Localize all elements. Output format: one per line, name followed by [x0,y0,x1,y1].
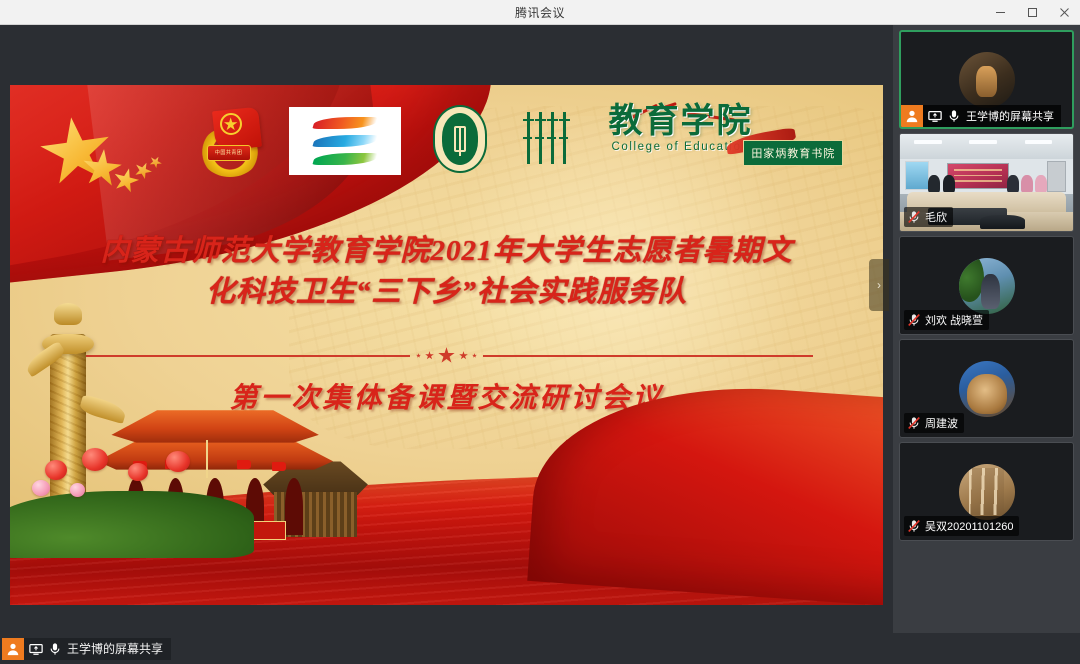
screen-share-icon [29,642,43,656]
app-body: 中国共青团 [0,25,1080,664]
collapse-panel-button[interactable]: › [869,259,889,311]
divider-stars [416,347,477,364]
window-titlebar: 腾讯会议 [0,0,1080,25]
mongolian-script-text [503,112,589,166]
divider-star-icon [425,351,434,360]
red-flowers-graphic [36,444,246,512]
participant-tile[interactable]: 周建波 [899,339,1074,438]
shared-screen-stage[interactable]: 中国共青团 [0,25,893,633]
participant-tile[interactable]: 毛欣 [899,133,1074,232]
mic-muted-icon [907,210,921,224]
communist-youth-league-emblem-icon: 中国共青团 [198,109,262,179]
university-seal-icon [433,105,487,173]
star-divider [80,348,813,364]
divider-star-icon [438,347,455,364]
mic-on-icon [947,109,961,123]
share-status-label: 王学博的屏幕共享 [67,640,163,657]
screen-share-status-chip[interactable]: 王学博的屏幕共享 [2,638,171,660]
headline-line-1: 内蒙古师范大学教育学院2021年大学生志愿者暑期文 [32,231,861,272]
host-person-icon [905,109,919,123]
host-person-icon [6,642,20,656]
divider-line-right [483,355,813,357]
host-badge [901,105,923,127]
host-badge [2,638,24,660]
poster-logo-row: 中国共青团 [10,101,883,210]
participant-nameplate: 吴双20201101260 [904,516,1019,536]
participant-name: 刘欢 战晓萱 [925,312,983,328]
poster-headline: 内蒙古师范大学教育学院2021年大学生志愿者暑期文 化科技卫生“三下乡”社会实践… [10,231,883,313]
divider-line-left [80,355,410,357]
avatar [959,464,1015,520]
tjb-badge-text: 田家炳教育书院 [751,148,835,160]
window-title: 腾讯会议 [515,4,565,21]
avatar [959,52,1015,108]
edu-title-cn: 教育学院 [591,104,771,140]
minimize-icon [995,7,1006,18]
participant-nameplate: 王学博的屏幕共享 [901,105,1061,127]
avatar [959,258,1015,314]
divider-star-icon [459,351,468,360]
participant-nameplate: 刘欢 战晓萱 [904,310,989,330]
participant-name: 王学博的屏幕共享 [966,108,1054,124]
window-controls [984,0,1080,25]
mic-muted-icon [907,519,921,533]
mic-on-icon [48,642,62,656]
tian-jia-bing-badge: 田家炳教育书院 [743,140,843,166]
participant-tile[interactable]: 王学博的屏幕共享 [899,30,1074,129]
headline-line-2: 化科技卫生“三下乡”社会实践服务队 [32,272,861,313]
maximize-button[interactable] [1016,0,1048,25]
maximize-icon [1027,7,1038,18]
participant-name: 毛欣 [925,209,947,225]
participant-name: 周建波 [925,415,958,431]
screen-share-icon [928,109,942,123]
mic-muted-icon [907,416,921,430]
participant-nameplate: 周建波 [904,413,964,433]
rainbow-ribbon-logo-icon [289,107,401,175]
participant-name: 吴双20201101260 [925,518,1013,534]
mic-muted-icon [907,313,921,327]
close-icon [1059,7,1070,18]
shared-poster-image: 中国共青团 [10,85,883,605]
minimize-button[interactable] [984,0,1016,25]
participant-tile[interactable]: 刘欢 战晓萱 [899,236,1074,335]
participant-nameplate: 毛欣 [904,207,953,227]
avatar [959,361,1015,417]
divider-star-icon [472,353,477,358]
participant-tile[interactable]: 吴双20201101260 [899,442,1074,541]
participant-rail[interactable]: 王学博的屏幕共享 [893,25,1080,633]
cyl-plate-text: 中国共青团 [208,146,250,160]
close-button[interactable] [1048,0,1080,25]
status-bar: 王学博的屏幕共享 [0,633,1080,664]
divider-star-icon [416,353,421,358]
